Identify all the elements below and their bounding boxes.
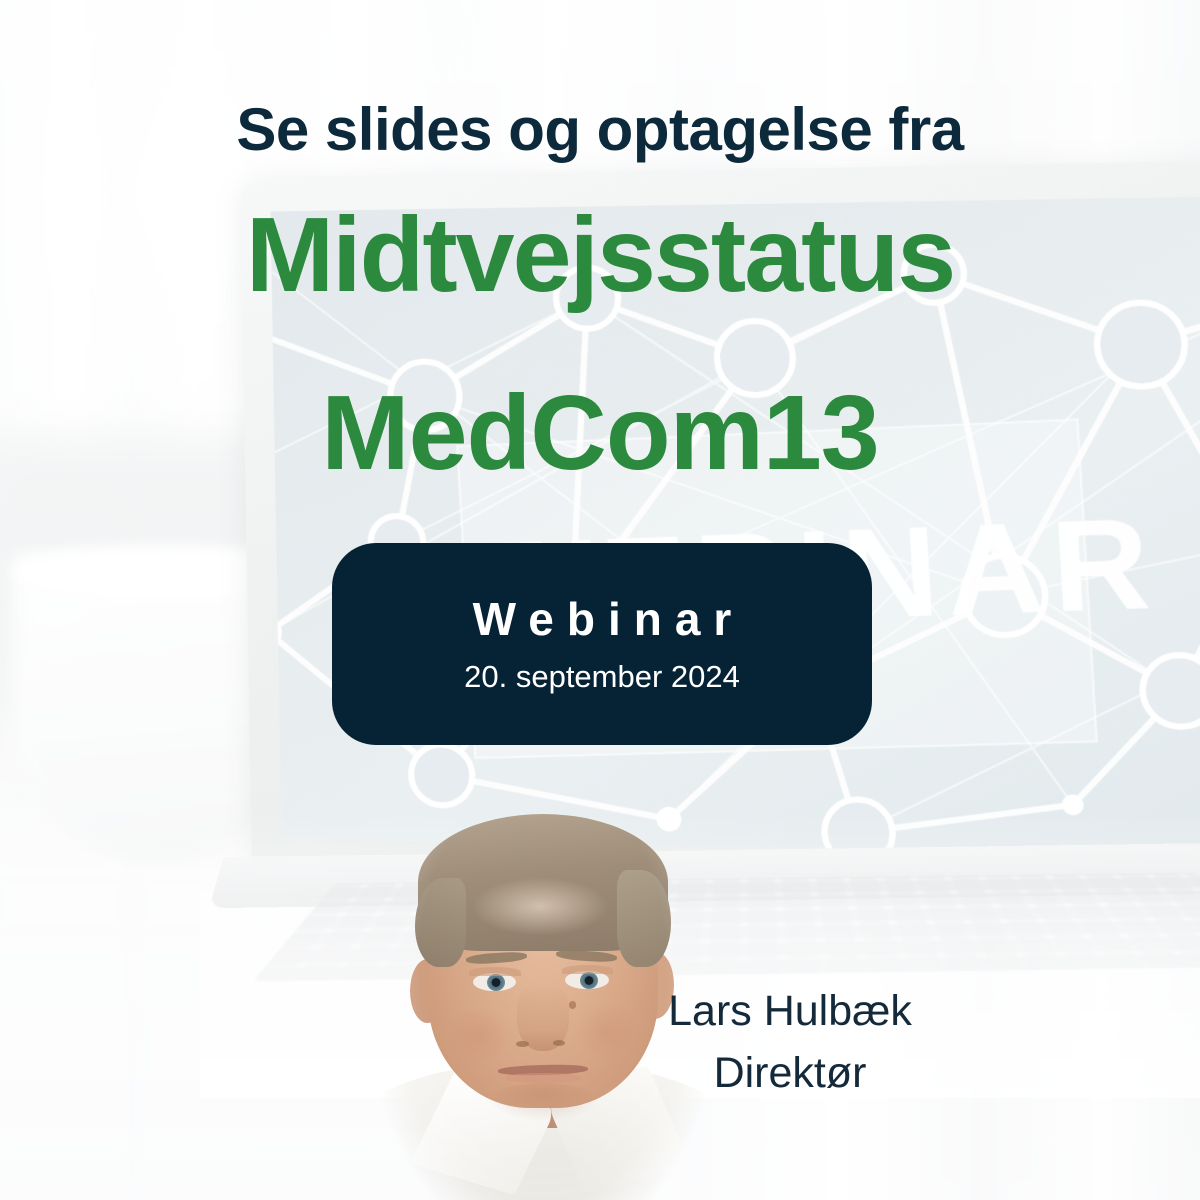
portrait-iris-right	[580, 972, 598, 989]
portrait-eyelid-left	[469, 967, 520, 977]
laptop-screen: WEBINAR	[271, 197, 1200, 856]
speaker-name: Lars Hulbæk	[640, 985, 940, 1039]
portrait-cheek-left	[447, 1007, 511, 1063]
portrait-forehead-highlight	[473, 878, 607, 934]
speaker-role: Direktør	[640, 1047, 940, 1101]
portrait-iris-left	[487, 974, 505, 991]
portrait-nostril-left	[516, 1041, 529, 1047]
portrait-hair-temple-left	[415, 878, 466, 966]
portrait-chin-shading	[489, 1083, 598, 1119]
badge-title: Webinar	[460, 594, 745, 645]
portrait-eyelid-right	[562, 965, 613, 975]
portrait-cheek-right	[575, 1003, 639, 1059]
badge-date: 20. september 2024	[464, 660, 740, 694]
portrait-mole	[569, 1001, 577, 1009]
webinar-promo-poster: WEBINAR Se slides og optagelse fra Midtv…	[0, 0, 1200, 1200]
webinar-badge: Webinar 20. september 2024	[332, 543, 872, 745]
speaker-caption: Lars Hulbæk Direktør	[640, 985, 940, 1101]
laptop-lid: WEBINAR	[240, 160, 1200, 888]
